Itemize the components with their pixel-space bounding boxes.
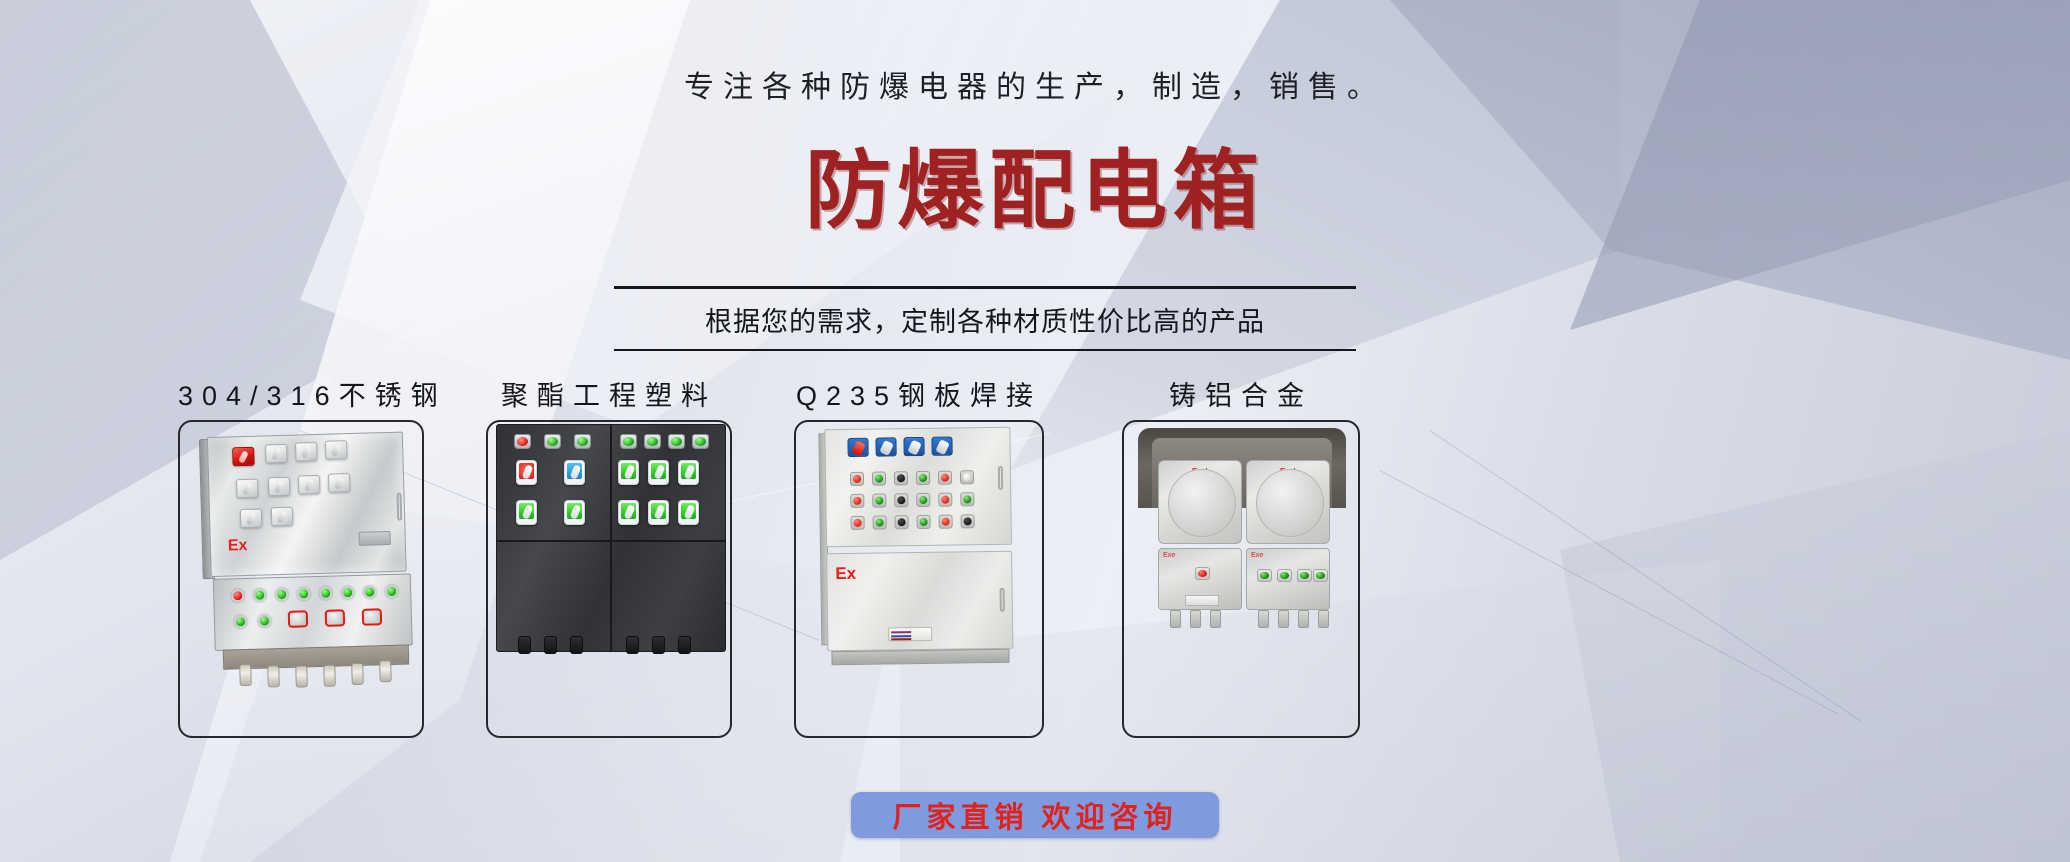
enclosure-lower-panel: [213, 573, 413, 651]
product-card-frame: Ex: [794, 420, 1044, 738]
push-button: [692, 434, 709, 449]
indicator-light: [231, 589, 244, 602]
switch-plate: [678, 460, 699, 485]
switch-plate: [648, 460, 669, 485]
cable-gland: [323, 665, 336, 687]
rotary-switch: [298, 475, 321, 495]
indicator-button: [873, 515, 887, 529]
rotary-switch: [268, 477, 291, 497]
contact-cta-button[interactable]: 厂家直销 欢迎咨询: [851, 792, 1219, 838]
indicator-button: [1195, 567, 1210, 580]
enclosure-seam-horizontal: [496, 540, 726, 542]
rotary-switch: [328, 473, 351, 493]
cable-gland: [351, 663, 364, 685]
rotary-switch: [240, 509, 263, 529]
push-button: [544, 434, 561, 449]
indicator-button: [895, 515, 909, 529]
cable-gland: [570, 636, 583, 654]
door-handle: [1000, 588, 1005, 612]
exe-badge-left: Exe: [1163, 552, 1175, 559]
rotary-switch: [875, 437, 896, 456]
product-card-label: 铸铝合金: [1122, 380, 1360, 420]
rotary-switch: [265, 444, 288, 464]
cable-gland: [1278, 610, 1289, 628]
switch-plate: [678, 500, 699, 525]
product-card-welded-steel[interactable]: Q235钢板焊接: [794, 380, 1044, 738]
indicator-light: [363, 585, 376, 598]
indicator-button: [851, 516, 865, 530]
indicator-button: [939, 515, 953, 529]
cable-gland: [1170, 610, 1181, 628]
indicator-button: [872, 493, 886, 507]
rotary-switch: [236, 479, 259, 499]
emergency-stop-button: [288, 610, 308, 628]
rotary-switch: [295, 442, 318, 462]
emergency-stop-button: [362, 608, 382, 626]
indicator-button: [938, 493, 952, 507]
enclosure-lower-cover-left: Exe: [1158, 548, 1242, 610]
indicator-button: [938, 471, 952, 485]
rotary-switch-emergency: [847, 438, 868, 457]
cable-gland: [652, 636, 665, 654]
banner-tagline: 专注各种防爆电器的生产，制造，销售。: [0, 62, 2070, 106]
cable-gland: [239, 664, 252, 686]
product-nameplate: [888, 627, 932, 642]
indicator-light: [385, 585, 398, 598]
product-card-label: 304/316不锈钢: [178, 380, 424, 420]
switch-plate: [618, 500, 639, 525]
cable-gland: [379, 660, 392, 682]
switch-plate: [564, 500, 585, 525]
exd-badge-left: Exd: [1192, 467, 1208, 476]
cable-gland: [518, 636, 531, 654]
indicator-light: [297, 587, 310, 600]
product-card-polyester-plastic[interactable]: 聚酯工程塑料: [486, 380, 732, 738]
polyester-enclosure-photo: [496, 424, 726, 652]
indicator-button: [1313, 569, 1328, 582]
switch-plate: [618, 460, 639, 485]
rotary-switch: [903, 437, 924, 456]
switch-plate: [1295, 479, 1310, 497]
promo-banner: 专注各种防爆电器的生产，制造，销售。 防爆配电箱 根据您的需求，定制各种材质性价…: [0, 0, 2070, 862]
enclosure-lower-door: Ex: [826, 551, 1013, 652]
cable-gland: [678, 636, 691, 654]
product-card-label: 聚酯工程塑料: [486, 380, 732, 420]
indicator-light: [275, 588, 288, 601]
switch-plate: [564, 460, 585, 485]
product-card-row: 304/316不锈钢 Ex: [0, 380, 2070, 800]
rotary-switch: [325, 440, 348, 460]
enclosure-lower-cover-right: Exe: [1246, 548, 1330, 610]
banner-subtitle-block: 根据您的需求，定制各种材质性价比高的产品: [614, 286, 1356, 351]
steel-enclosure-photo: Ex: [818, 423, 1021, 676]
enclosure-upper-door: [824, 427, 1012, 548]
switch-plate: [648, 500, 669, 525]
switch-plate: [516, 460, 537, 485]
push-button: [668, 434, 685, 449]
indicator-button: [960, 470, 974, 484]
cable-gland: [1318, 610, 1329, 628]
enclosure-round-cover-left: Exd: [1158, 460, 1242, 544]
cable-gland: [267, 665, 280, 687]
exd-badge-right: Exd: [1280, 467, 1296, 476]
enclosure-round-cover-right: Exd: [1246, 460, 1330, 544]
product-card-frame: Exd Exd Exe: [1122, 420, 1360, 738]
rotary-switch: [271, 507, 294, 527]
cable-entry-plate: [359, 531, 391, 546]
cable-gland: [626, 636, 639, 654]
indicator-button: [894, 493, 908, 507]
subtitle-rule-bottom: [614, 349, 1356, 351]
push-button: [514, 434, 531, 449]
product-card-stainless-steel[interactable]: 304/316不锈钢 Ex: [178, 380, 424, 738]
indicator-button: [916, 493, 930, 507]
ex-badge: Ex: [835, 564, 856, 584]
enclosure-base: [831, 649, 1009, 665]
door-handle: [396, 493, 402, 521]
indicator-button: [850, 494, 864, 508]
switch-plate: [516, 500, 537, 525]
cable-gland: [1210, 610, 1221, 628]
switch-plate: [1265, 479, 1280, 497]
emergency-stop-button: [325, 609, 345, 627]
product-card-cast-aluminum[interactable]: 铸铝合金 Exd Exd E: [1122, 380, 1360, 738]
product-card-label: Q235钢板焊接: [794, 380, 1044, 420]
indicator-button: [917, 515, 931, 529]
indicator-button: [894, 471, 908, 485]
indicator-button: [960, 492, 974, 506]
product-card-frame: [486, 420, 732, 738]
banner-title: 防爆配电箱: [0, 120, 2070, 245]
indicator-light: [341, 586, 354, 599]
cable-gland: [1298, 610, 1309, 628]
indicator-button: [961, 514, 975, 528]
rotary-switch-emergency: [232, 447, 255, 467]
push-button: [644, 434, 661, 449]
indicator-button: [872, 471, 886, 485]
push-button: [574, 434, 591, 449]
indicator-light: [258, 614, 271, 627]
switch-plate: [1295, 505, 1310, 523]
exe-badge-right: Exe: [1251, 552, 1263, 559]
indicator-button: [850, 472, 864, 486]
stainless-enclosure-photo: Ex: [199, 421, 438, 677]
switch-plate: [1265, 505, 1280, 523]
product-nameplate: [1185, 595, 1219, 606]
indicator-button: [1277, 569, 1292, 582]
enclosure-seam-vertical: [610, 424, 612, 652]
cable-gland: [295, 665, 308, 687]
cable-gland: [544, 636, 557, 654]
cable-gland: [1190, 610, 1201, 628]
indicator-light: [253, 588, 266, 601]
door-handle: [998, 466, 1003, 490]
ex-badge: Ex: [228, 537, 248, 556]
indicator-light: [319, 587, 332, 600]
indicator-button: [1257, 569, 1272, 582]
rotary-switch: [931, 437, 952, 456]
banner-subtitle: 根据您的需求，定制各种材质性价比高的产品: [614, 289, 1356, 349]
push-button: [620, 434, 637, 449]
switch-plate: [1189, 478, 1204, 496]
indicator-light: [234, 615, 247, 628]
indicator-button: [1297, 569, 1312, 582]
enclosure-upper-door: Ex: [207, 432, 407, 577]
indicator-button: [916, 471, 930, 485]
cable-gland: [1258, 610, 1269, 628]
product-card-frame: Ex: [178, 420, 424, 738]
aluminum-enclosure-photo: Exd Exd Exe: [1134, 428, 1352, 664]
